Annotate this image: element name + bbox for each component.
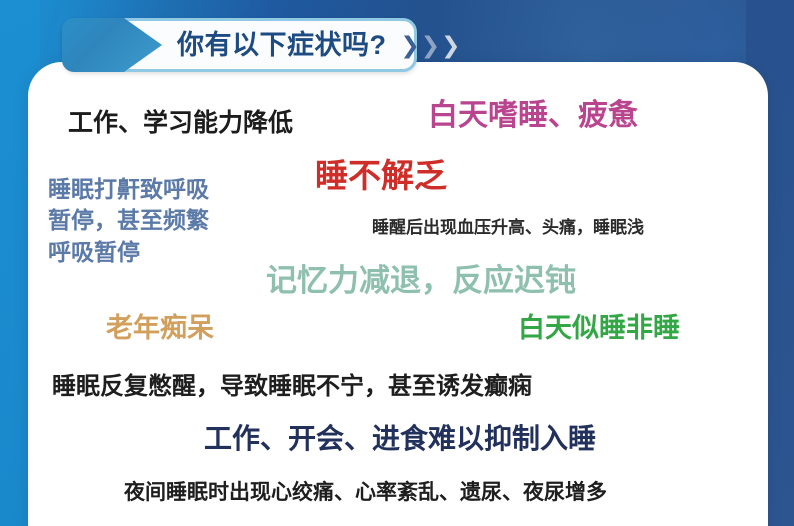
page-title: 你有以下症状吗?: [177, 32, 387, 59]
symptom-half-asleep: 白天似睡非睡: [518, 312, 680, 345]
symptom-snore-apnea-line1: 睡眠打鼾致呼吸: [48, 174, 209, 205]
symptom-suffocate-wake: 睡眠反复憋醒，导致睡眠不宁，甚至诱发癫痫: [52, 372, 532, 401]
title-arrow-shape: [62, 18, 162, 72]
title-badge: 你有以下症状吗? ❯ ❯ ❯: [62, 18, 417, 72]
chevron-right-icon: ❯ ❯ ❯: [401, 34, 461, 57]
symptoms-card: 工作、学习能力降低 白天嗜睡、疲惫 睡眠打鼾致呼吸 暂停，甚至频繁 呼吸暂停 睡…: [28, 62, 768, 526]
symptom-snore-apnea-line2: 暂停，甚至频繁: [48, 205, 209, 236]
chevron-right-icon-3: ❯: [441, 34, 460, 57]
poster-root: 工作、学习能力降低 白天嗜睡、疲惫 睡眠打鼾致呼吸 暂停，甚至频繁 呼吸暂停 睡…: [0, 0, 794, 526]
symptom-daytime-sleepy: 白天嗜睡、疲惫: [428, 98, 638, 135]
symptom-dementia: 老年痴呆: [106, 312, 214, 345]
chevron-right-icon-1: ❯: [401, 34, 420, 57]
symptom-work-ability: 工作、学习能力降低: [68, 108, 293, 139]
symptom-snore-apnea: 睡眠打鼾致呼吸 暂停，甚至频繁 呼吸暂停: [48, 174, 209, 268]
symptom-snore-apnea-line3: 呼吸暂停: [48, 237, 209, 268]
symptom-memory-decline: 记忆力减退，反应迟钝: [266, 262, 576, 300]
chevron-right-icon-2: ❯: [421, 34, 440, 57]
symptom-irresistible: 工作、开会、进食难以抑制入睡: [204, 422, 596, 456]
symptom-night-symptoms: 夜间睡眠时出现心绞痛、心率紊乱、遗尿、夜尿增多: [124, 480, 607, 506]
symptom-wake-symptoms: 睡醒后出现血压升高、头痛，睡眠浅: [372, 218, 644, 239]
symptom-unrefreshing: 睡不解乏: [315, 156, 447, 196]
